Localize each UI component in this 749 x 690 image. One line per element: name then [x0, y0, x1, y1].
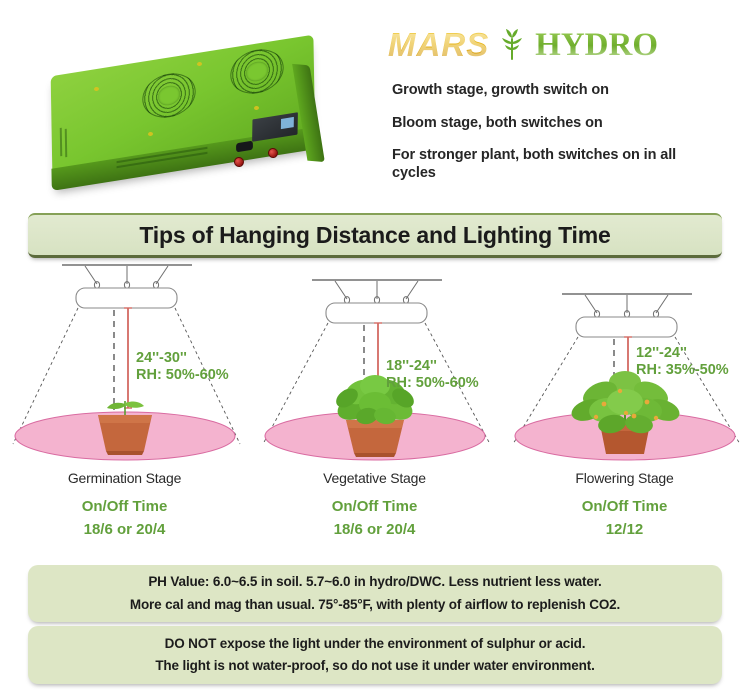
switch-bloom	[267, 147, 278, 158]
stage-caption-germination: Germination Stage	[0, 470, 249, 486]
plant-pot	[346, 420, 404, 457]
product-photo-led-grow-light	[42, 36, 332, 196]
humidity-label: RH: 50%-60%	[136, 367, 229, 383]
intro-line-3: For stronger plant, both switches on in …	[392, 147, 722, 182]
light-fixture	[326, 303, 427, 323]
germination-diagram: 24''-30'' RH: 50%-60%	[0, 258, 249, 473]
note-line-2: More cal and mag than usual. 75°-85°F, w…	[130, 594, 620, 616]
distance-label: 24''-30''	[136, 350, 187, 366]
leaf-icon	[499, 29, 525, 61]
note-box-ph-value: PH Value: 6.0~6.5 in soil. 5.7~6.0 in hy…	[28, 565, 722, 622]
humidity-label: RH: 35%-50%	[636, 362, 729, 378]
brand-name-mars: MARS	[388, 26, 489, 64]
stage-caption-flowering: Flowering Stage	[500, 470, 749, 486]
switch-growth	[233, 156, 244, 167]
light-fixture	[576, 317, 677, 337]
onoff-value: 12/12	[500, 518, 749, 541]
light-fixture	[76, 288, 177, 308]
stage-diagrams: 24''-30'' RH: 50%-60% Germination Stage	[0, 258, 749, 488]
header-section: MARS HYDRO Growth stage, growth switch o…	[0, 0, 749, 205]
onoff-cell-germination: On/Off Time 18/6 or 20/4	[0, 495, 249, 542]
humidity-label: RH: 50%-60%	[386, 375, 479, 391]
stage-panel-vegetative: 18''-24'' RH: 50%-60% Vegetative Stage	[250, 258, 499, 488]
warning-line-2: The light is not water-proof, so do not …	[155, 655, 594, 677]
stage-panel-flowering: 12''-24'' RH: 35%-50% Flowering Stage	[500, 258, 749, 488]
stage-panel-germination: 24''-30'' RH: 50%-60% Germination Stage	[0, 258, 249, 488]
intro-line-1: Growth stage, growth switch on	[392, 82, 722, 100]
stage-caption-vegetative: Vegetative Stage	[250, 470, 499, 486]
vegetative-diagram: 18''-24'' RH: 50%-60%	[250, 258, 499, 473]
distance-label: 12''-24''	[636, 345, 687, 361]
intro-line-2: Bloom stage, both switches on	[392, 115, 722, 133]
warning-line-1: DO NOT expose the light under the enviro…	[165, 633, 586, 655]
distance-label: 18''-24''	[386, 358, 437, 374]
onoff-label: On/Off Time	[0, 495, 249, 518]
section-banner: Tips of Hanging Distance and Lighting Ti…	[28, 213, 722, 258]
note-line-1: PH Value: 6.0~6.5 in soil. 5.7~6.0 in hy…	[148, 571, 601, 593]
flowering-diagram: 12''-24'' RH: 35%-50%	[500, 258, 749, 473]
onoff-time-row: On/Off Time 18/6 or 20/4 On/Off Time 18/…	[0, 495, 749, 555]
intro-text-block: Growth stage, growth switch on Bloom sta…	[392, 82, 722, 183]
banner-title: Tips of Hanging Distance and Lighting Ti…	[139, 222, 610, 249]
plant-pot	[98, 415, 152, 455]
brand-logo: MARS HYDRO	[388, 22, 708, 68]
onoff-cell-vegetative: On/Off Time 18/6 or 20/4	[250, 495, 499, 542]
brand-name-hydro: HYDRO	[535, 27, 658, 64]
onoff-label: On/Off Time	[250, 495, 499, 518]
note-box-warnings: DO NOT expose the light under the enviro…	[28, 626, 722, 684]
onoff-value: 18/6 or 20/4	[0, 518, 249, 541]
onoff-label: On/Off Time	[500, 495, 749, 518]
onoff-value: 18/6 or 20/4	[250, 518, 499, 541]
onoff-cell-flowering: On/Off Time 12/12	[500, 495, 749, 542]
